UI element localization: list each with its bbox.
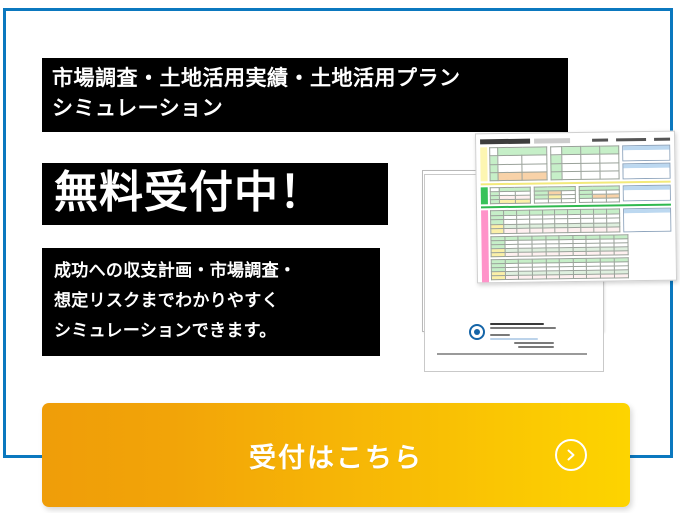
chevron-right-icon — [555, 439, 587, 471]
mini-table — [491, 257, 629, 280]
section-tab-pink — [481, 210, 489, 283]
note-column — [623, 185, 671, 203]
mini-table — [490, 208, 620, 234]
logo-text-line — [518, 346, 554, 348]
note-card — [622, 163, 670, 180]
headline-text: 無料受付中！ — [54, 167, 376, 219]
mini-table — [490, 234, 628, 257]
section-tab-yellow — [480, 147, 487, 181]
document-footnote-line — [437, 353, 587, 355]
mini-table — [490, 187, 532, 205]
mini-table — [578, 185, 620, 203]
company-logo-text — [490, 323, 556, 348]
logo-text-line — [490, 334, 510, 336]
spreadsheet-header — [480, 136, 670, 145]
document-illustration-group — [408, 128, 676, 378]
heading-line-1: 市場調査・土地活用実績・土地活用プラン — [52, 64, 558, 94]
section-content — [490, 208, 672, 284]
spreadsheet-section-yellow — [480, 145, 670, 182]
cta-button-label: 受付はこちら — [249, 436, 423, 475]
cta-button[interactable]: 受付はこちら — [42, 403, 630, 507]
body-line-3: シミュレーションできます。 — [54, 316, 368, 346]
heading-line-2: シミュレーション — [52, 94, 558, 124]
section-content — [489, 145, 670, 182]
note-card — [623, 208, 671, 233]
note-card — [623, 185, 671, 202]
section-content — [490, 185, 671, 205]
mini-table — [550, 145, 620, 180]
spreadsheet-meta — [592, 137, 670, 141]
logo-text-line — [490, 327, 556, 329]
logo-text-line — [490, 323, 544, 325]
logo-text-line — [514, 342, 554, 344]
simulation-spreadsheet-sheet — [475, 131, 677, 284]
section-tab-green — [481, 187, 488, 204]
heading-block: 市場調査・土地活用実績・土地活用プラン シミュレーション — [42, 58, 568, 132]
body-line-1: 成功への収支計画・市場調査・ — [54, 256, 368, 286]
spreadsheet-subtitle-bar — [534, 138, 570, 144]
note-card — [622, 145, 670, 162]
company-logo-block — [469, 323, 599, 367]
headline-block: 無料受付中！ — [42, 163, 388, 225]
body-copy-block: 成功への収支計画・市場調査・ 想定リスクまでわかりやすく シミュレーションできま… — [42, 248, 380, 356]
note-column — [623, 208, 671, 233]
spreadsheet-title-bar — [480, 138, 530, 144]
logo-text-line — [490, 338, 538, 340]
meta-field — [654, 137, 670, 140]
spreadsheet-section-green — [481, 185, 671, 205]
mini-table — [489, 146, 547, 181]
promo-banner: 市場調査・土地活用実績・土地活用プラン シミュレーション 無料受付中！ 成功への… — [0, 0, 680, 513]
mini-table — [534, 186, 576, 204]
company-logo-icon — [469, 324, 485, 340]
note-column — [622, 145, 670, 180]
meta-field — [616, 138, 646, 141]
meta-field — [592, 138, 608, 141]
body-line-2: 想定リスクまでわかりやすく — [54, 286, 368, 316]
spreadsheet-section-pink — [481, 208, 672, 284]
